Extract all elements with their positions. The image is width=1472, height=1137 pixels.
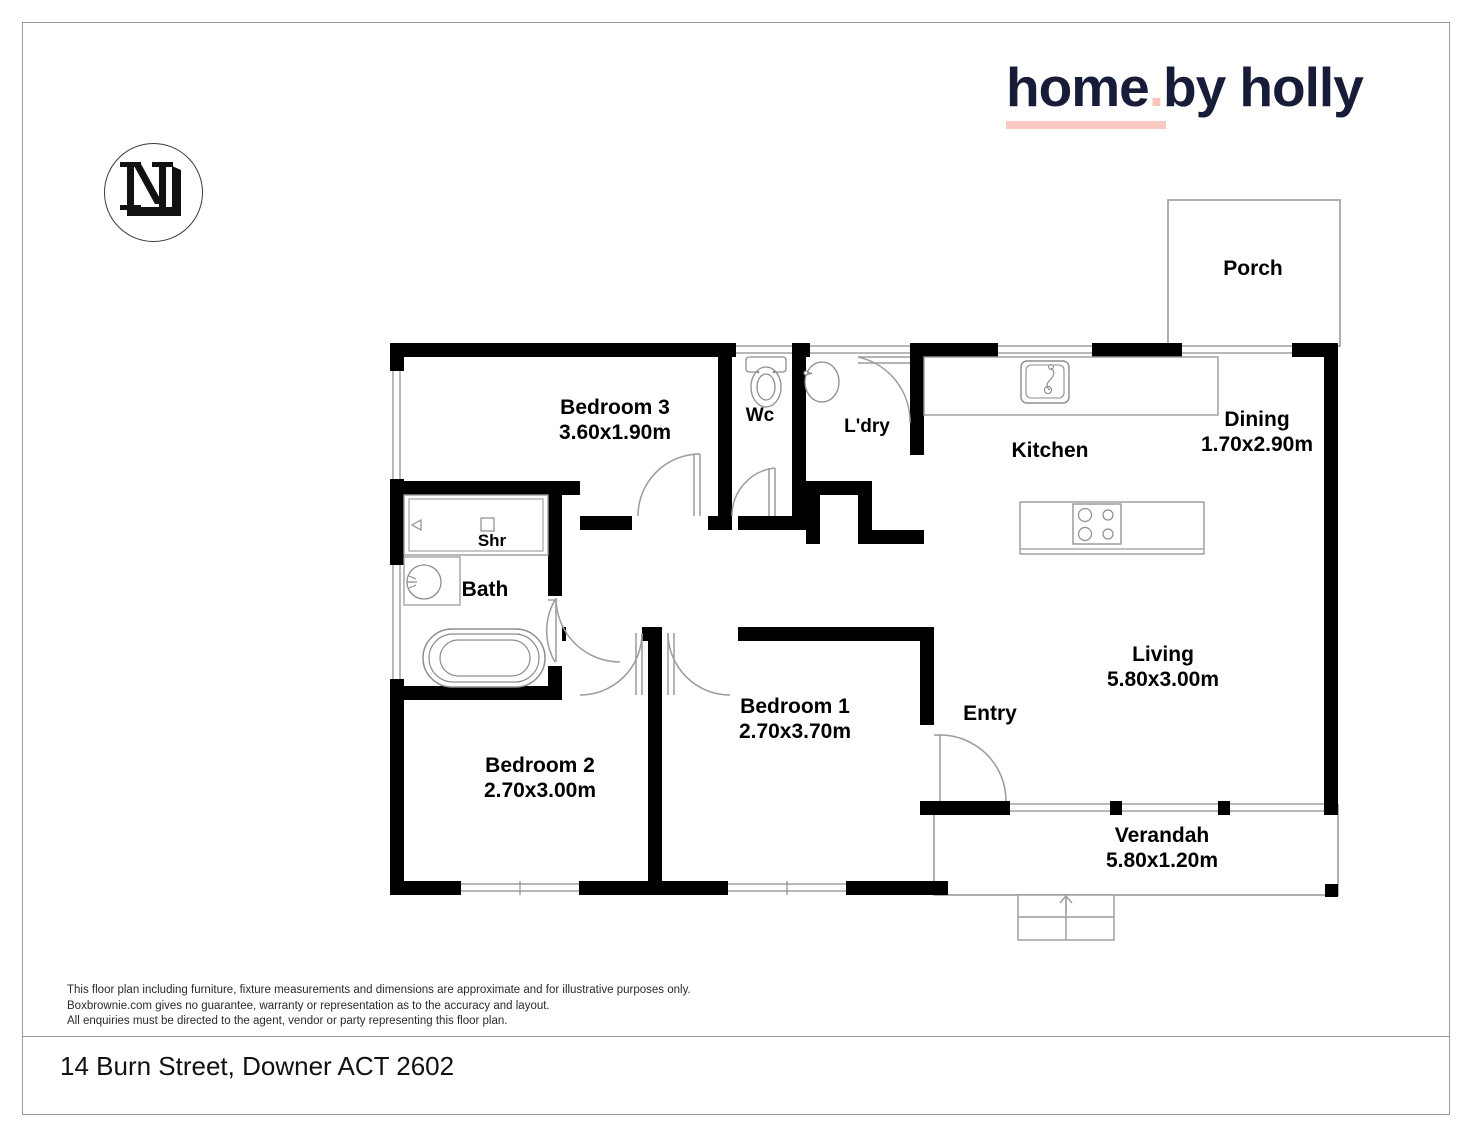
floor-plan-drawing	[0, 0, 1472, 1137]
verandah-steps	[1018, 895, 1114, 940]
room-label-living: Living 5.80x3.00m	[1058, 643, 1268, 693]
room-label-dining: Dining 1.70x2.90m	[1132, 408, 1382, 458]
kitchen-island	[1020, 502, 1204, 554]
cooktop-fixture	[1073, 504, 1121, 544]
room-label-laundry: L'dry	[822, 416, 912, 438]
room-label-shower: Shr	[446, 531, 538, 551]
disclaimer-text: This floor plan including furniture, fix…	[67, 983, 691, 1030]
room-label-bedroom-3: Bedroom 3 3.60x1.90m	[490, 396, 740, 446]
property-address: 14 Burn Street, Downer ACT 2602	[60, 1051, 454, 1082]
laundry-sink-fixture	[804, 362, 839, 402]
room-label-wc: Wc	[726, 405, 794, 427]
footer-divider	[22, 1036, 1450, 1037]
room-label-kitchen: Kitchen	[975, 439, 1125, 464]
room-label-porch: Porch	[1188, 257, 1318, 282]
room-label-bath: Bath	[430, 578, 540, 603]
bathtub-fixture	[423, 629, 545, 687]
room-label-verandah: Verandah 5.80x1.20m	[1027, 824, 1297, 874]
kitchen-sink-fixture	[1021, 361, 1069, 403]
kitchen-bench	[924, 357, 1218, 415]
toilet-fixture	[746, 357, 786, 407]
floorplan-page: home.by holly	[0, 0, 1472, 1137]
room-label-bedroom-2: Bedroom 2 2.70x3.00m	[430, 754, 650, 804]
room-label-entry: Entry	[935, 702, 1045, 727]
room-label-bedroom-1: Bedroom 1 2.70x3.70m	[680, 695, 910, 745]
